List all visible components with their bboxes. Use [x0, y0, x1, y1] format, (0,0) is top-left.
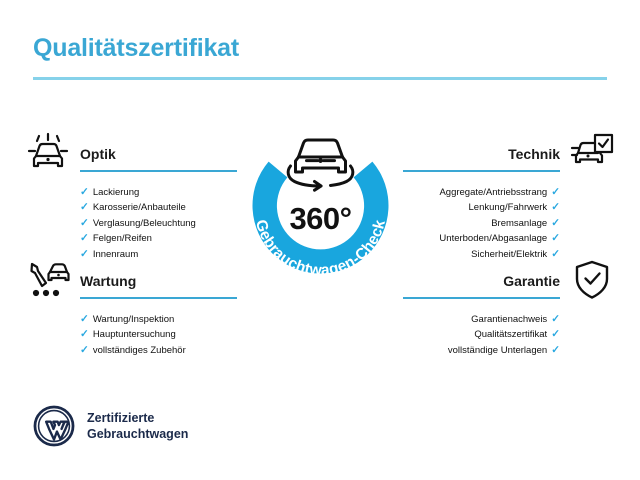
check-icon: ✓	[551, 216, 560, 231]
section-garantie-divider	[403, 297, 560, 299]
list-item: ✓Unterboden/Abgasanlage	[403, 231, 560, 246]
header-divider	[33, 77, 607, 80]
list-item: ✓Hauptuntersuchung	[80, 327, 237, 342]
section-optik-list: ✓Lackierung ✓Karosserie/Anbauteile ✓Verg…	[22, 185, 237, 262]
list-item: ✓Lenkung/Fahrwerk	[403, 200, 560, 215]
page-header: Qualitätszertifikat	[33, 33, 607, 80]
check-icon: ✓	[551, 185, 560, 200]
check-icon: ✓	[80, 231, 89, 246]
shield-check-icon	[568, 258, 616, 302]
check-icon: ✓	[80, 200, 89, 215]
section-optik-title: Optik	[80, 145, 116, 163]
section-garantie-header: Garantie	[403, 258, 618, 304]
list-item: ✓Qualitätszertifikat	[403, 327, 560, 342]
list-item-label: Qualitätszertifikat	[474, 327, 547, 342]
list-item: ✓Lackierung	[80, 185, 237, 200]
section-optik: Optik ✓Lackierung ✓Karosserie/Anbauteile…	[22, 131, 237, 262]
check-icon: ✓	[551, 200, 560, 215]
list-item: ✓Garantienachweis	[403, 312, 560, 327]
check-icon: ✓	[80, 327, 89, 342]
list-item: ✓Karosserie/Anbauteile	[80, 200, 237, 215]
check-icon: ✓	[551, 312, 560, 327]
list-item-label: Wartung/Inspektion	[93, 312, 175, 327]
qualitaetszertifikat-page: Qualitätszertifikat Optik	[0, 0, 640, 480]
footer-line-2: Gebrauchtwagen	[87, 426, 188, 442]
list-item-label: Verglasung/Beleuchtung	[93, 216, 196, 231]
list-item-label: vollständige Unterlagen	[448, 343, 547, 358]
footer-line-1: Zertifizierte	[87, 410, 188, 426]
section-wartung-divider	[80, 297, 237, 299]
check-icon: ✓	[80, 312, 89, 327]
list-item-label: Felgen/Reifen	[93, 231, 152, 246]
list-item-label: vollständiges Zubehör	[93, 343, 186, 358]
section-technik-divider	[403, 170, 560, 172]
section-optik-divider	[80, 170, 237, 172]
section-wartung-list: ✓Wartung/Inspektion ✓Hauptuntersuchung ✓…	[22, 312, 237, 358]
section-technik-header: Technik	[403, 131, 618, 177]
footer-text: Zertifizierte Gebrauchtwagen	[87, 410, 188, 442]
check-icon: ✓	[551, 343, 560, 358]
rotating-car-360-icon	[288, 140, 353, 190]
section-optik-header: Optik	[22, 131, 237, 177]
sparkling-car-front-icon	[24, 131, 72, 175]
section-technik: Technik ✓Aggregate/Antriebsstrang ✓Lenku…	[403, 131, 618, 262]
footer-brand: Zertifizierte Gebrauchtwagen	[33, 405, 188, 447]
check-icon: ✓	[80, 185, 89, 200]
list-item-label: Garantienachweis	[471, 312, 547, 327]
check-icon: ✓	[551, 327, 560, 342]
list-item: ✓Bremsanlage	[403, 216, 560, 231]
list-item-label: Aggregate/Antriebsstrang	[439, 185, 547, 200]
section-garantie-title: Garantie	[503, 272, 560, 290]
volkswagen-logo	[33, 405, 75, 447]
list-item-label: Karosserie/Anbauteile	[93, 200, 186, 215]
car-checkbox-icon	[568, 131, 616, 175]
list-item-label: Hauptuntersuchung	[93, 327, 176, 342]
section-technik-title: Technik	[508, 145, 560, 163]
check-icon: ✓	[80, 343, 89, 358]
list-item-label: Lackierung	[93, 185, 139, 200]
badge-360-gebrauchtwagen-check: Gebrauchtwagen-Check 360°	[233, 122, 408, 297]
section-garantie-list: ✓Garantienachweis ✓Qualitätszertifikat ✓…	[403, 312, 618, 358]
list-item: ✓Aggregate/Antriebsstrang	[403, 185, 560, 200]
list-item: ✓Verglasung/Beleuchtung	[80, 216, 237, 231]
list-item: ✓Wartung/Inspektion	[80, 312, 237, 327]
list-item-label: Bremsanlage	[491, 216, 547, 231]
section-wartung-header: Wartung	[22, 258, 237, 304]
wrench-screwdriver-car-icon	[24, 258, 72, 302]
check-icon: ✓	[80, 216, 89, 231]
section-wartung: Wartung ✓Wartung/Inspektion ✓Hauptunters…	[22, 258, 237, 358]
page-title: Qualitätszertifikat	[33, 33, 607, 63]
list-item: ✓vollständige Unterlagen	[403, 343, 560, 358]
section-wartung-title: Wartung	[80, 272, 136, 290]
list-item-label: Unterboden/Abgasanlage	[439, 231, 547, 246]
section-garantie: Garantie ✓Garantienachweis ✓Qualitätszer…	[403, 258, 618, 358]
list-item: ✓vollständiges Zubehör	[80, 343, 237, 358]
list-item-label: Lenkung/Fahrwerk	[469, 200, 548, 215]
section-technik-list: ✓Aggregate/Antriebsstrang ✓Lenkung/Fahrw…	[403, 185, 618, 262]
check-icon: ✓	[551, 231, 560, 246]
badge-degrees-label: 360°	[233, 202, 408, 236]
list-item: ✓Felgen/Reifen	[80, 231, 237, 246]
